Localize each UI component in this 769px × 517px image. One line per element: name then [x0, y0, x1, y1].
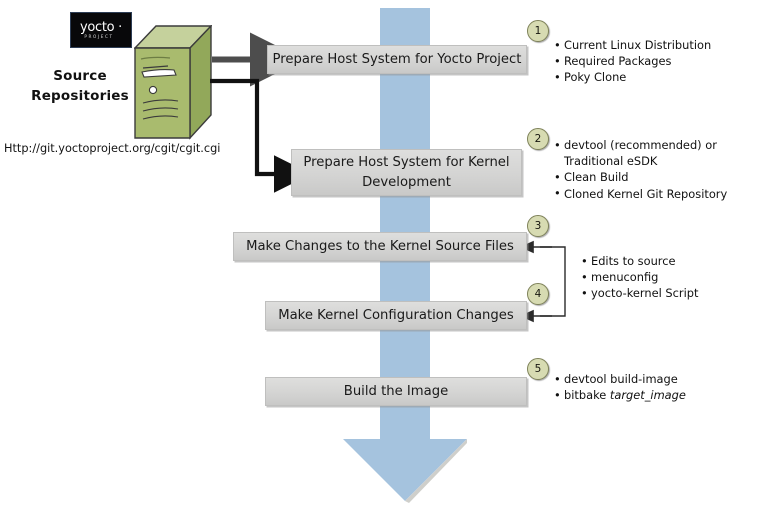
- logo-sub-text: PROJECT: [84, 35, 113, 39]
- source-repository-url: Http://git.yoctoproject.org/cgit/cgit.cg…: [4, 142, 220, 155]
- annotation-step2: devtool (recommended) or Traditional eSD…: [551, 137, 756, 202]
- workflow-arrowhead: [343, 437, 467, 503]
- logo-main-text: yocto ·: [80, 21, 122, 34]
- bitbake-target-italic: target_image: [610, 388, 686, 402]
- annotation-step1: Current Linux Distribution Required Pack…: [551, 37, 751, 86]
- list-item: Clean Build: [564, 169, 756, 185]
- list-item: menuconfig: [591, 269, 753, 285]
- yocto-project-logo: yocto · PROJECT: [70, 12, 132, 48]
- annotation-steps-3-4: Edits to source menuconfig yocto-kernel …: [578, 253, 753, 302]
- step-number-3: 3: [527, 215, 549, 237]
- list-item: Poky Clone: [564, 69, 751, 85]
- bracket-steps-3-4: [540, 247, 565, 316]
- process-box-prepare-host-kernel[interactable]: Prepare Host System for Kernel Developme…: [291, 149, 522, 196]
- step-number-2: 2: [527, 128, 549, 150]
- list-item: Cloned Kernel Git Repository: [564, 186, 756, 202]
- step-number-5: 5: [527, 358, 549, 380]
- process-box-kernel-config-changes[interactable]: Make Kernel Configuration Changes: [265, 301, 527, 330]
- list-item: devtool build-image: [564, 371, 741, 387]
- list-item: bitbake target_image: [564, 387, 741, 403]
- annotation-step5: devtool build-image bitbake target_image: [551, 371, 741, 403]
- list-item: Current Linux Distribution: [564, 37, 751, 53]
- process-box-build-image[interactable]: Build the Image: [265, 377, 527, 406]
- list-item: yocto-kernel Script: [591, 285, 753, 301]
- source-repositories-label: Source Repositories: [20, 66, 140, 107]
- list-item: Required Packages: [564, 53, 751, 69]
- bitbake-command: bitbake: [564, 388, 610, 402]
- process-box-kernel-source-changes[interactable]: Make Changes to the Kernel Source Files: [233, 232, 527, 261]
- list-item: Edits to source: [591, 253, 753, 269]
- list-item: devtool (recommended) or Traditional eSD…: [564, 137, 756, 169]
- step-number-4: 4: [527, 283, 549, 305]
- arrow-server-to-step2: [210, 81, 278, 174]
- server-tower-icon: [134, 25, 212, 140]
- process-box-prepare-host-yocto[interactable]: Prepare Host System for Yocto Project: [267, 45, 527, 74]
- step-number-1: 1: [527, 20, 549, 42]
- diagram-canvas: yocto · PROJECT Source Repositories Http…: [0, 0, 769, 517]
